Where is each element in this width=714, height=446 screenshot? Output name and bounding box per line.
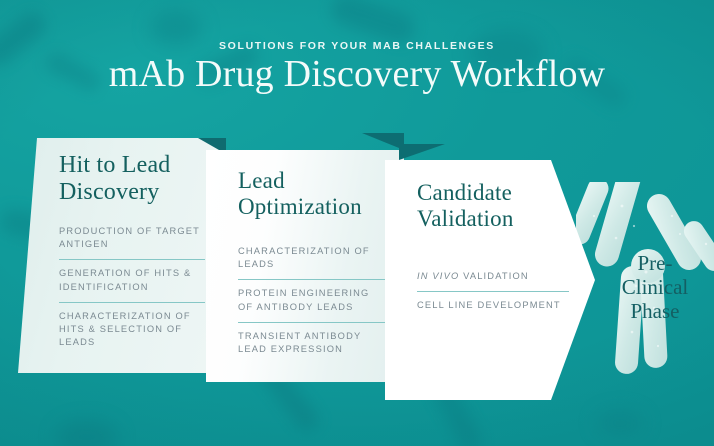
phase-line-2: Clinical [600,275,710,299]
stage-item: CHARACTERIZATION OF HITS & SELECTION OF … [59,302,205,358]
stage-item-list: CHARACTERIZATION OF LEADS PROTEIN ENGINE… [238,245,388,364]
stage-item: IN VIVO VALIDATION [417,270,569,291]
folded-corner-icon [399,144,445,160]
stage-item: CHARACTERIZATION OF LEADS [238,245,388,279]
stage-item: CELL LINE DEVELOPMENT [417,291,569,320]
stage-card-hit-to-lead-discovery[interactable]: Hit to Lead Discovery PRODUCTION OF TARG… [18,138,226,373]
stage-card-lead-optimization[interactable]: Lead Optimization CHARACTERIZATION OF LE… [206,150,404,382]
stage-item: TRANSIENT ANTIBODY LEAD EXPRESSION [238,322,388,364]
eyebrow-text: SOLUTIONS FOR YOUR MAB CHALLENGES [0,40,714,52]
page-title: mAb Drug Discovery Workflow [0,52,714,96]
stage-item-list: IN VIVO VALIDATION CELL LINE DEVELOPMENT [417,270,569,320]
phase-line-1: Pre- [600,251,710,275]
infographic-canvas: SOLUTIONS FOR YOUR MAB CHALLENGES mAb Dr… [0,0,714,446]
stage-title: Hit to Lead Discovery [59,152,226,206]
pre-clinical-phase-label: Pre- Clinical Phase [600,251,710,323]
stage-item: PRODUCTION OF TARGET ANTIGEN [59,225,205,259]
stage-item-list: PRODUCTION OF TARGET ANTIGEN GENERATION … [59,225,205,357]
stage-title: Lead Optimization [238,168,404,220]
stage-card-candidate-validation[interactable]: Candidate Validation IN VIVO VALIDATION … [385,160,595,400]
phase-line-3: Phase [600,299,710,323]
stage-item: GENERATION OF HITS & IDENTIFICATION [59,259,205,301]
folded-corner-icon [362,133,404,150]
stage-item: PROTEIN ENGINEERING OF ANTIBODY LEADS [238,279,388,321]
stage-title: Candidate Validation [417,180,595,232]
